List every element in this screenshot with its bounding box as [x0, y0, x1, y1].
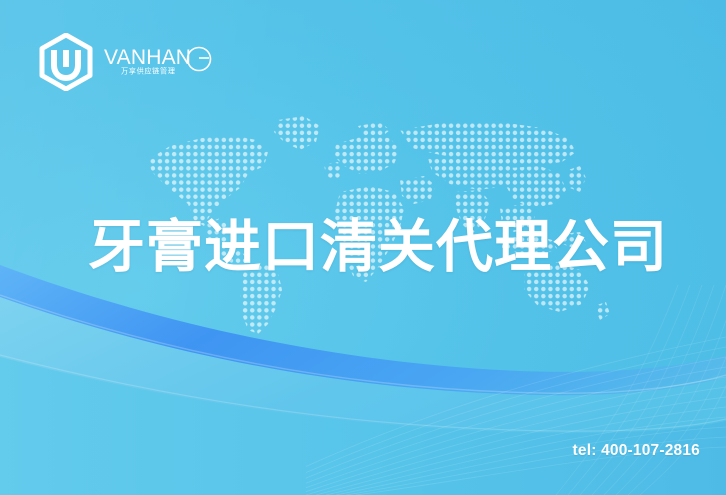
vanhang-hexagon-u-mark-icon: [38, 33, 94, 91]
vanhang-wordmark: VANHAN 万享供应链管理: [104, 45, 212, 79]
page-title: 牙膏进口清关代理公司: [88, 214, 668, 280]
brand-logo[interactable]: VANHAN 万享供应链管理: [38, 33, 212, 91]
promo-banner: VANHAN 万享供应链管理 牙膏进口清关代理公司 tel: 400-107-2…: [0, 0, 726, 495]
contact-phone[interactable]: tel: 400-107-2816: [573, 441, 700, 461]
svg-text:万享供应链管理: 万享供应链管理: [121, 67, 176, 76]
